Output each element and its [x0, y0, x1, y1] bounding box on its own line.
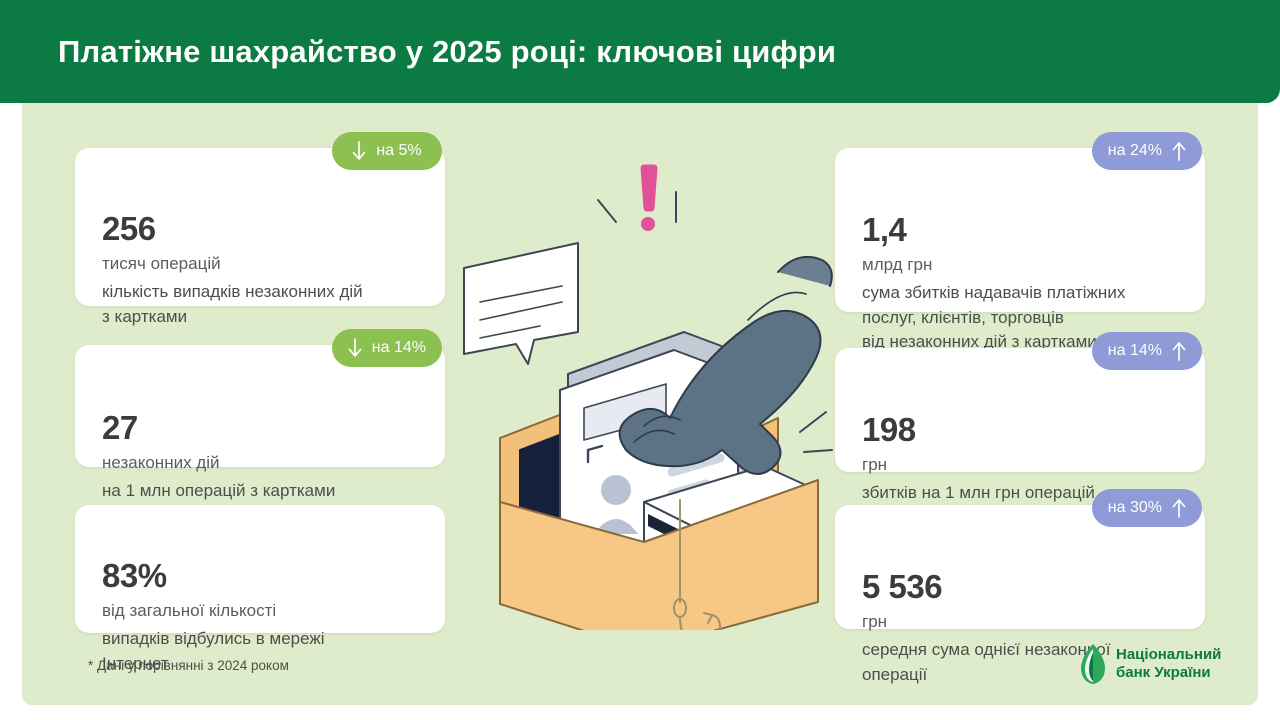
change-badge-up: на 30% — [1092, 489, 1202, 527]
stat-unit: незаконних дій — [102, 453, 220, 472]
nbu-logo: Національний банк України — [1080, 643, 1221, 685]
stat-unit: грн — [862, 612, 887, 631]
stat-value: 1,4 — [862, 211, 906, 248]
stat-unit: від загальної кількості — [102, 601, 276, 620]
stat-card-right-3: на 30% 5 536 грн середня сума однієї нез… — [835, 505, 1205, 629]
badge-label: на 14% — [372, 339, 426, 357]
stat-unit: грн — [862, 455, 887, 474]
stat-unit: тисяч операцій — [102, 254, 221, 273]
stat-value: 5 536 — [862, 568, 942, 605]
arrow-up-icon — [1172, 141, 1186, 161]
stat-unit: млрд грн — [862, 255, 932, 274]
stat-card-left-2: на 14% 27 незаконних дій на 1 млн операц… — [75, 345, 445, 467]
page-title: Платіжне шахрайство у 2025 році: ключові… — [58, 34, 836, 70]
stat-value: 198 — [862, 411, 916, 448]
arrow-down-icon — [352, 141, 366, 161]
stat-headline: 5 536 грн — [862, 538, 1187, 635]
stat-card-right-2: на 14% 198 грн збитків на 1 млн грн опер… — [835, 348, 1205, 472]
stat-card-left-1: на 5% 256 тисяч операцій кількість випад… — [75, 148, 445, 306]
infographic-poster: Платіжне шахрайство у 2025 році: ключові… — [0, 0, 1280, 720]
stat-description: кількість випадків незаконних дій з карт… — [102, 280, 427, 329]
arrow-down-icon — [348, 338, 362, 358]
nbu-leaf-icon — [1080, 643, 1106, 685]
speech-bubble — [464, 243, 578, 364]
stat-value: 27 — [102, 409, 138, 446]
change-badge-up: на 24% — [1092, 132, 1202, 170]
alert-icon — [641, 168, 655, 231]
nbu-logo-text: Національний банк України — [1116, 646, 1221, 681]
arrow-up-icon — [1172, 498, 1186, 518]
stat-headline: 27 незаконних дій — [102, 379, 427, 476]
stat-headline: 198 грн — [862, 381, 1187, 478]
stat-headline: 83% від загальної кількості — [102, 527, 427, 624]
badge-label: на 14% — [1108, 342, 1162, 360]
stat-card-right-1: на 24% 1,4 млрд грн сума збитків надавач… — [835, 148, 1205, 312]
badge-label: на 30% — [1108, 499, 1162, 517]
fraud-illustration: 1234 5678 — [448, 150, 838, 630]
badge-label: на 24% — [1108, 142, 1162, 160]
stat-headline: 1,4 млрд грн — [862, 181, 1187, 278]
change-badge-down: на 14% — [332, 329, 442, 367]
footnote: * Дані у порівнянні з 2024 роком — [88, 658, 289, 673]
change-badge-up: на 14% — [1092, 332, 1202, 370]
header-bar: Платіжне шахрайство у 2025 році: ключові… — [0, 0, 1280, 103]
stat-description: на 1 млн операцій з картками — [102, 479, 427, 504]
badge-label: на 5% — [376, 142, 421, 160]
stat-card-left-3: 83% від загальної кількості випадків від… — [75, 505, 445, 633]
arrow-up-icon — [1172, 341, 1186, 361]
stat-value: 256 — [102, 210, 156, 247]
stat-value: 83% — [102, 557, 167, 594]
stat-headline: 256 тисяч операцій — [102, 180, 427, 277]
change-badge-down: на 5% — [332, 132, 442, 170]
